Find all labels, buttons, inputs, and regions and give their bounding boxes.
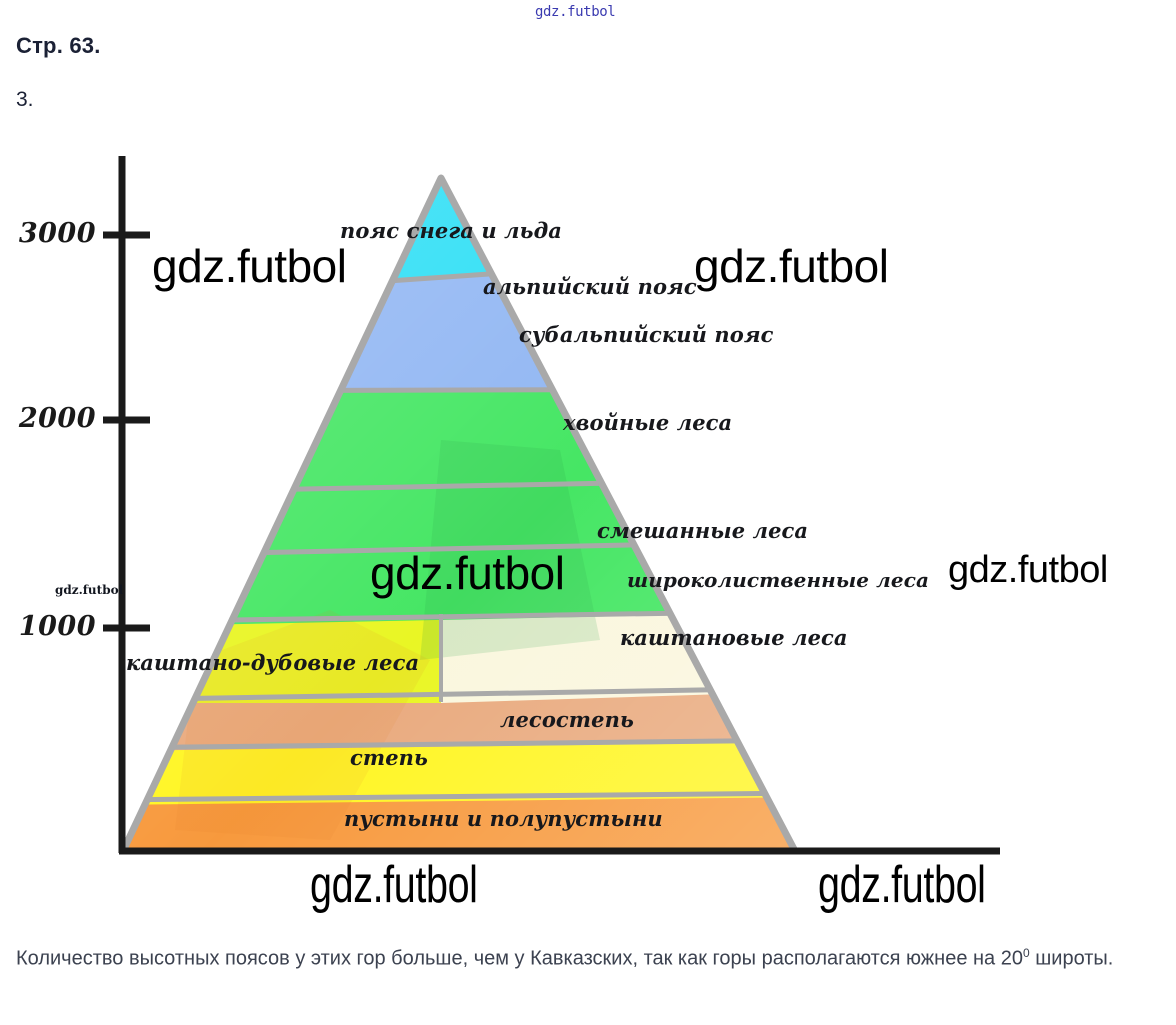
task-number: 3. [16,88,34,112]
belt-label-forest-steppe: лесостепь [500,707,634,732]
belt-label-subalpine: субальпийский пояс [519,322,774,347]
belt-label-alpine: альпийский пояс [483,274,697,299]
y-tick-label-1000: 1000 [6,611,96,642]
conclusion-text-before: Количество высотных поясов у этих гор бо… [16,948,1023,970]
conclusion-paragraph: Количество высотных поясов у этих гор бо… [16,930,1162,982]
band-snow-ice [100,140,820,214]
y-axis-ticks [103,235,150,628]
altitudinal-belts-diagram: 3000 2000 1000 gdz.futbol пояс снега и л… [0,140,1100,880]
belt-label-broadleaf-forest: широколиственные леса [627,568,929,592]
belt-label-steppe: степь [350,745,428,770]
y-tick-label-2000: 2000 [6,403,96,434]
belt-label-desert: пустыни и полупустыни [344,806,663,831]
belt-label-chestnut-oak-forest: каштано-дубовые леса [126,650,419,675]
pyramid-chart-svg [0,140,1100,880]
conclusion-degree-sup: 0 [1023,946,1030,960]
belt-label-chestnut-forest: каштановые леса [620,625,848,650]
belt-label-mixed-forest: смешанные леса [597,518,808,543]
page-label: Стр. 63. [16,33,101,59]
y-tick-label-3000: 3000 [6,218,96,249]
conclusion-text-after: широты. [1030,948,1114,970]
watermark-top: gdz.futbol [535,4,615,20]
belt-label-snow-ice: пояс снега и льда [340,218,562,243]
belt-label-coniferous-forest: хвойные леса [563,410,732,435]
